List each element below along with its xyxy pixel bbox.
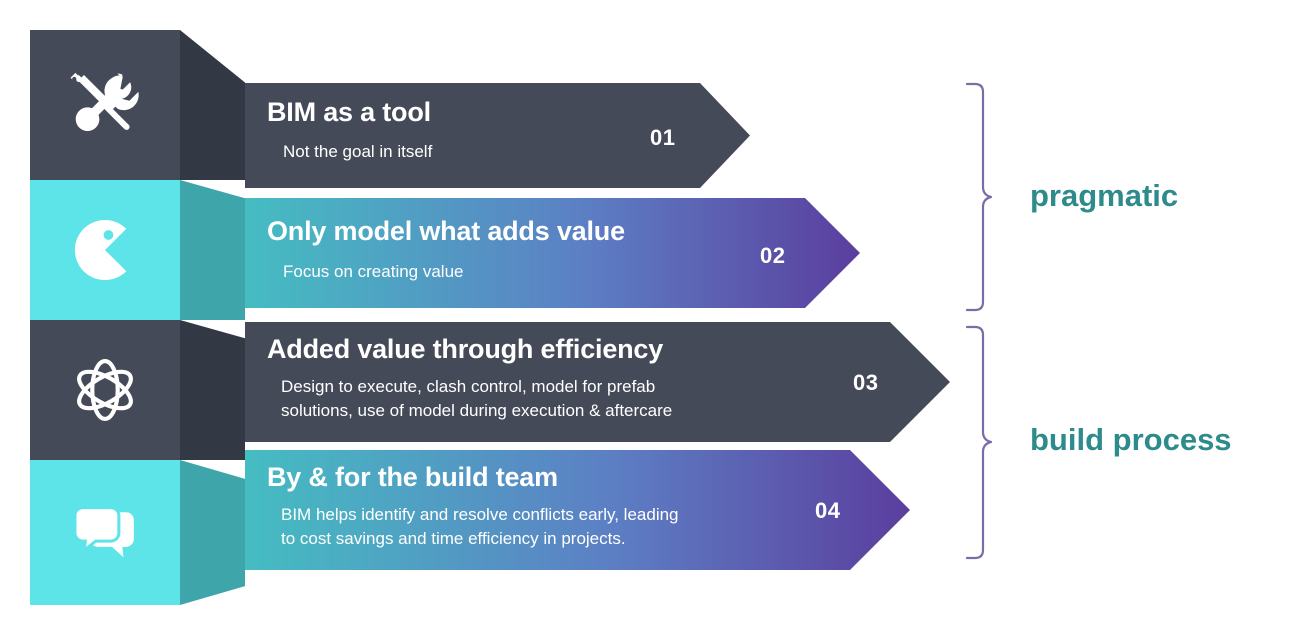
arrow-4-title: By & for the build team [267,462,558,493]
pacman-icon [68,213,142,287]
arrow-1-text: BIM as a tool Not the goal in itself 01 [245,83,750,188]
arrow-2-number: 02 [760,243,785,269]
group-label-pragmatic: pragmatic [1030,178,1178,214]
arrow-2-title: Only model what adds value [267,216,625,247]
infographic-canvas: BIM as a tool Not the goal in itself 01 … [0,0,1290,633]
process-arrow-4[interactable]: By & for the build team BIM helps identi… [245,450,910,570]
process-arrow-3[interactable]: Added value through efficiency Design to… [245,322,950,442]
arrow-2-subtitle: Focus on creating value [283,261,464,283]
arrow-4-subtitle-line2: to cost savings and time efficiency in p… [281,528,626,550]
icon-block-2 [30,180,180,320]
arrow-4-subtitle-line1: BIM helps identify and resolve conflicts… [281,504,679,526]
arrow-4-number: 04 [815,498,840,524]
group-build-process: build process [965,325,1285,560]
group-label-build-process: build process [1030,422,1232,458]
icon-block-1-side [180,30,245,180]
arrow-3-text: Added value through efficiency Design to… [245,322,950,442]
chat-bubbles-icon [68,496,142,570]
arrow-1-subtitle: Not the goal in itself [283,141,432,163]
arrow-3-subtitle-line2: solutions, use of model during execution… [281,400,672,422]
icon-column [0,0,260,633]
group-pragmatic: pragmatic [965,82,1265,312]
process-arrow-2[interactable]: Only model what adds value Focus on crea… [245,198,860,308]
arrow-1-title: BIM as a tool [267,97,431,128]
arrow-4-text: By & for the build team BIM helps identi… [245,450,910,570]
arrow-1-number: 01 [650,125,675,151]
atom-icon [68,353,142,427]
icon-block-1 [30,30,180,180]
icon-block-3 [30,320,180,460]
icon-block-4-side [180,460,245,605]
curly-brace-icon-2 [965,325,1005,560]
arrow-2-text: Only model what adds value Focus on crea… [245,198,860,308]
arrow-3-title: Added value through efficiency [267,334,663,365]
icon-block-4 [30,460,180,605]
arrow-3-number: 03 [853,370,878,396]
icon-block-3-side [180,320,245,460]
icon-block-2-side [180,180,245,320]
curly-brace-icon-1 [965,82,1005,312]
arrow-3-subtitle-line1: Design to execute, clash control, model … [281,376,655,398]
process-arrow-1[interactable]: BIM as a tool Not the goal in itself 01 [245,83,750,188]
tools-icon [68,68,142,142]
